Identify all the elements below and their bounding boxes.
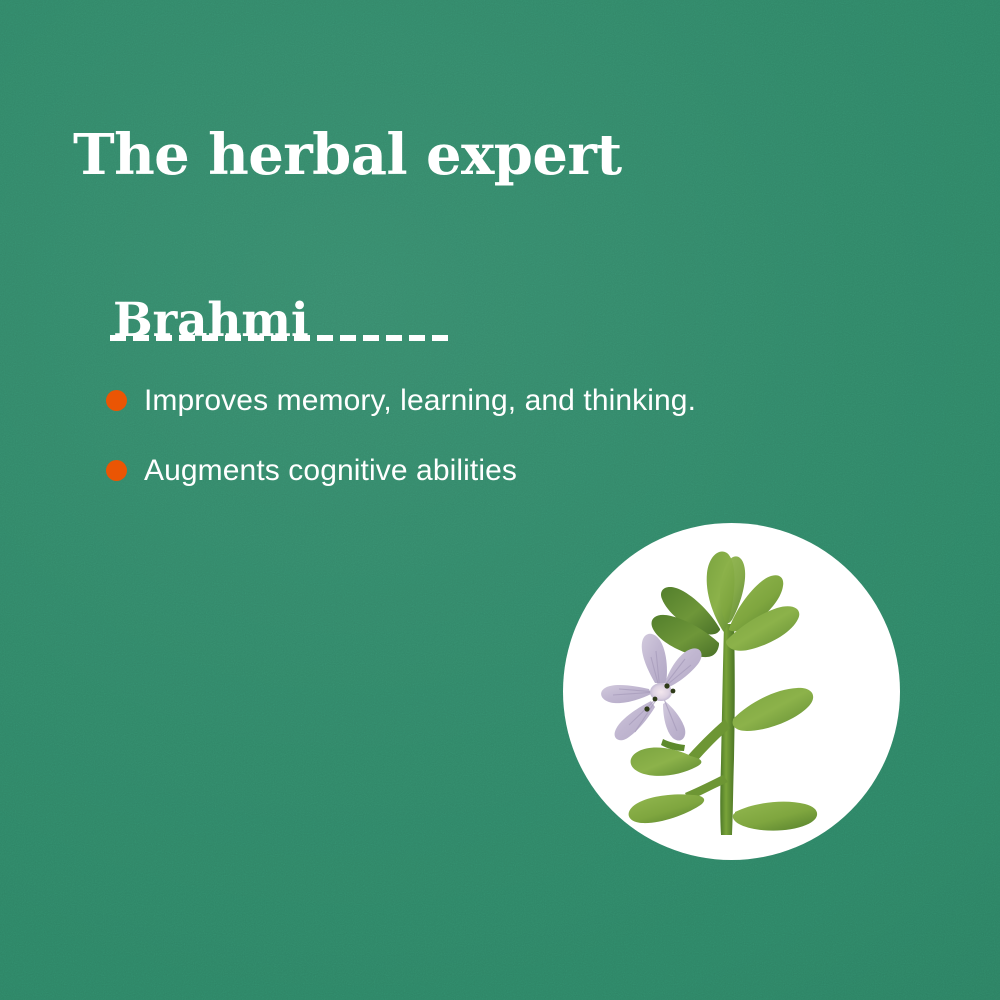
benefits-list: Improves memory, learning, and thinking.… bbox=[106, 375, 896, 515]
herbal-expert-poster: The herbal expert Brahmi Improves memory… bbox=[0, 0, 1000, 1000]
bullet-dot-icon bbox=[106, 390, 127, 411]
brahmi-plant-illustration bbox=[563, 523, 900, 860]
page-title: The herbal expert bbox=[73, 126, 622, 185]
dashed-divider bbox=[110, 335, 458, 341]
list-item: Augments cognitive abilities bbox=[106, 445, 896, 495]
bullet-dot-icon bbox=[106, 460, 127, 481]
list-item: Improves memory, learning, and thinking. bbox=[106, 375, 896, 425]
brahmi-plant-medallion bbox=[563, 523, 900, 860]
benefit-text: Improves memory, learning, and thinking. bbox=[144, 384, 696, 417]
benefit-text: Augments cognitive abilities bbox=[144, 454, 517, 487]
